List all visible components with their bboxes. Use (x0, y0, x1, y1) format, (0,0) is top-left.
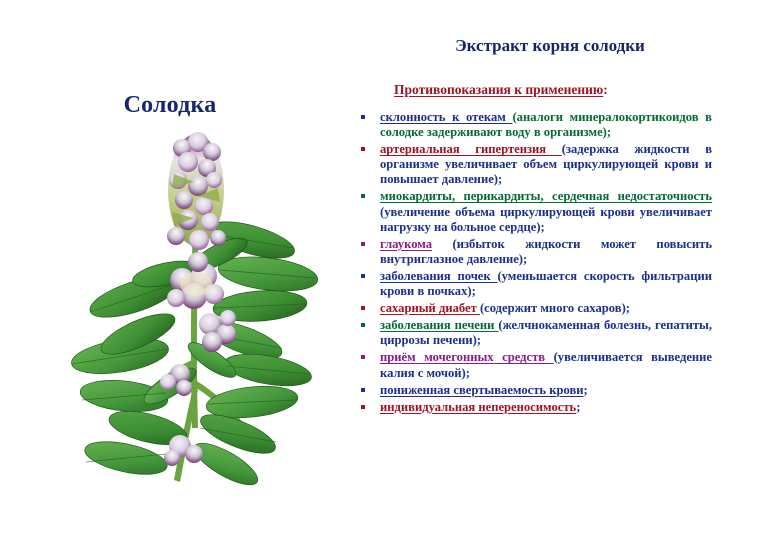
content-panel: Экстракт корня солодки Противопоказания … (340, 0, 780, 552)
bullet-dot-icon (361, 355, 365, 359)
list-item-text: заболевания почек (уменьшается скорость … (380, 269, 712, 299)
list-item: заболевания почек (уменьшается скорость … (340, 269, 780, 299)
list-item: пониженная свертываемость крови; (340, 383, 780, 398)
list-item: сахарный диабет (содержит много сахаров)… (340, 301, 780, 316)
bullet-dot-icon (361, 274, 365, 278)
bullet-dot-icon (361, 242, 365, 246)
condition-term: заболевания почек (380, 269, 497, 283)
licorice-plant-image (62, 128, 324, 500)
list-item-text: артериальная гипертензия (задержка жидко… (380, 142, 712, 187)
condition-term: сахарный диабет (380, 301, 480, 315)
bullet-dot-icon (361, 388, 365, 392)
list-item: индивидуальная непереносимость; (340, 400, 780, 415)
condition-term: артериальная гипертензия (380, 142, 562, 156)
bullet-dot-icon (361, 306, 365, 310)
condition-term: приём мочегонных средств (380, 350, 554, 364)
list-item-text: пониженная свертываемость крови; (380, 383, 712, 398)
bullet-dot-icon (361, 405, 365, 409)
list-item-text: миокардиты, перикардиты, сердечная недос… (380, 189, 712, 234)
section-heading-colon: : (603, 82, 608, 97)
list-item-text: глаукома (избыток жидкости может повысит… (380, 237, 712, 267)
bullet-dot-icon (361, 115, 365, 119)
list-item: приём мочегонных средств (увеличивается … (340, 350, 780, 380)
condition-term: пониженная свертываемость крови (380, 383, 584, 397)
list-item-text: сахарный диабет (содержит много сахаров)… (380, 301, 712, 316)
section-heading-text: Противопоказания к применению (394, 82, 603, 97)
condition-explanation: (увеличение объема циркулирующей крови у… (380, 205, 712, 234)
condition-term: миокардиты, перикардиты, сердечная недос… (380, 189, 712, 203)
condition-term: склонность к отекам (380, 110, 512, 124)
condition-term: заболевания печени (380, 318, 498, 332)
plant-panel: Солодка (0, 0, 340, 552)
bullet-dot-icon (361, 194, 365, 198)
list-item: склонность к отекам (аналоги минералокор… (340, 110, 780, 140)
condition-explanation: ; (576, 400, 580, 414)
list-item: заболевания печени (желчнокаменная болез… (340, 318, 780, 348)
list-item: глаукома (избыток жидкости может повысит… (340, 237, 780, 267)
document-title: Экстракт корня солодки (340, 36, 760, 56)
bullet-dot-icon (361, 147, 365, 151)
condition-term: глаукома (380, 237, 432, 251)
list-item-text: индивидуальная непереносимость; (380, 400, 712, 415)
list-item: артериальная гипертензия (задержка жидко… (340, 142, 780, 187)
list-item-text: приём мочегонных средств (увеличивается … (380, 350, 712, 380)
bullet-dot-icon (361, 323, 365, 327)
condition-term: индивидуальная непереносимость (380, 400, 576, 414)
page-title-plant-name: Солодка (0, 92, 340, 119)
contraindications-list: склонность к отекам (аналоги минералокор… (340, 110, 780, 417)
condition-explanation: ; (584, 383, 588, 397)
list-item: миокардиты, перикардиты, сердечная недос… (340, 189, 780, 234)
section-heading: Противопоказания к применению: (394, 82, 608, 98)
list-item-text: склонность к отекам (аналоги минералокор… (380, 110, 712, 140)
list-item-text: заболевания печени (желчнокаменная болез… (380, 318, 712, 348)
condition-explanation: (содержит много сахаров); (480, 301, 630, 315)
